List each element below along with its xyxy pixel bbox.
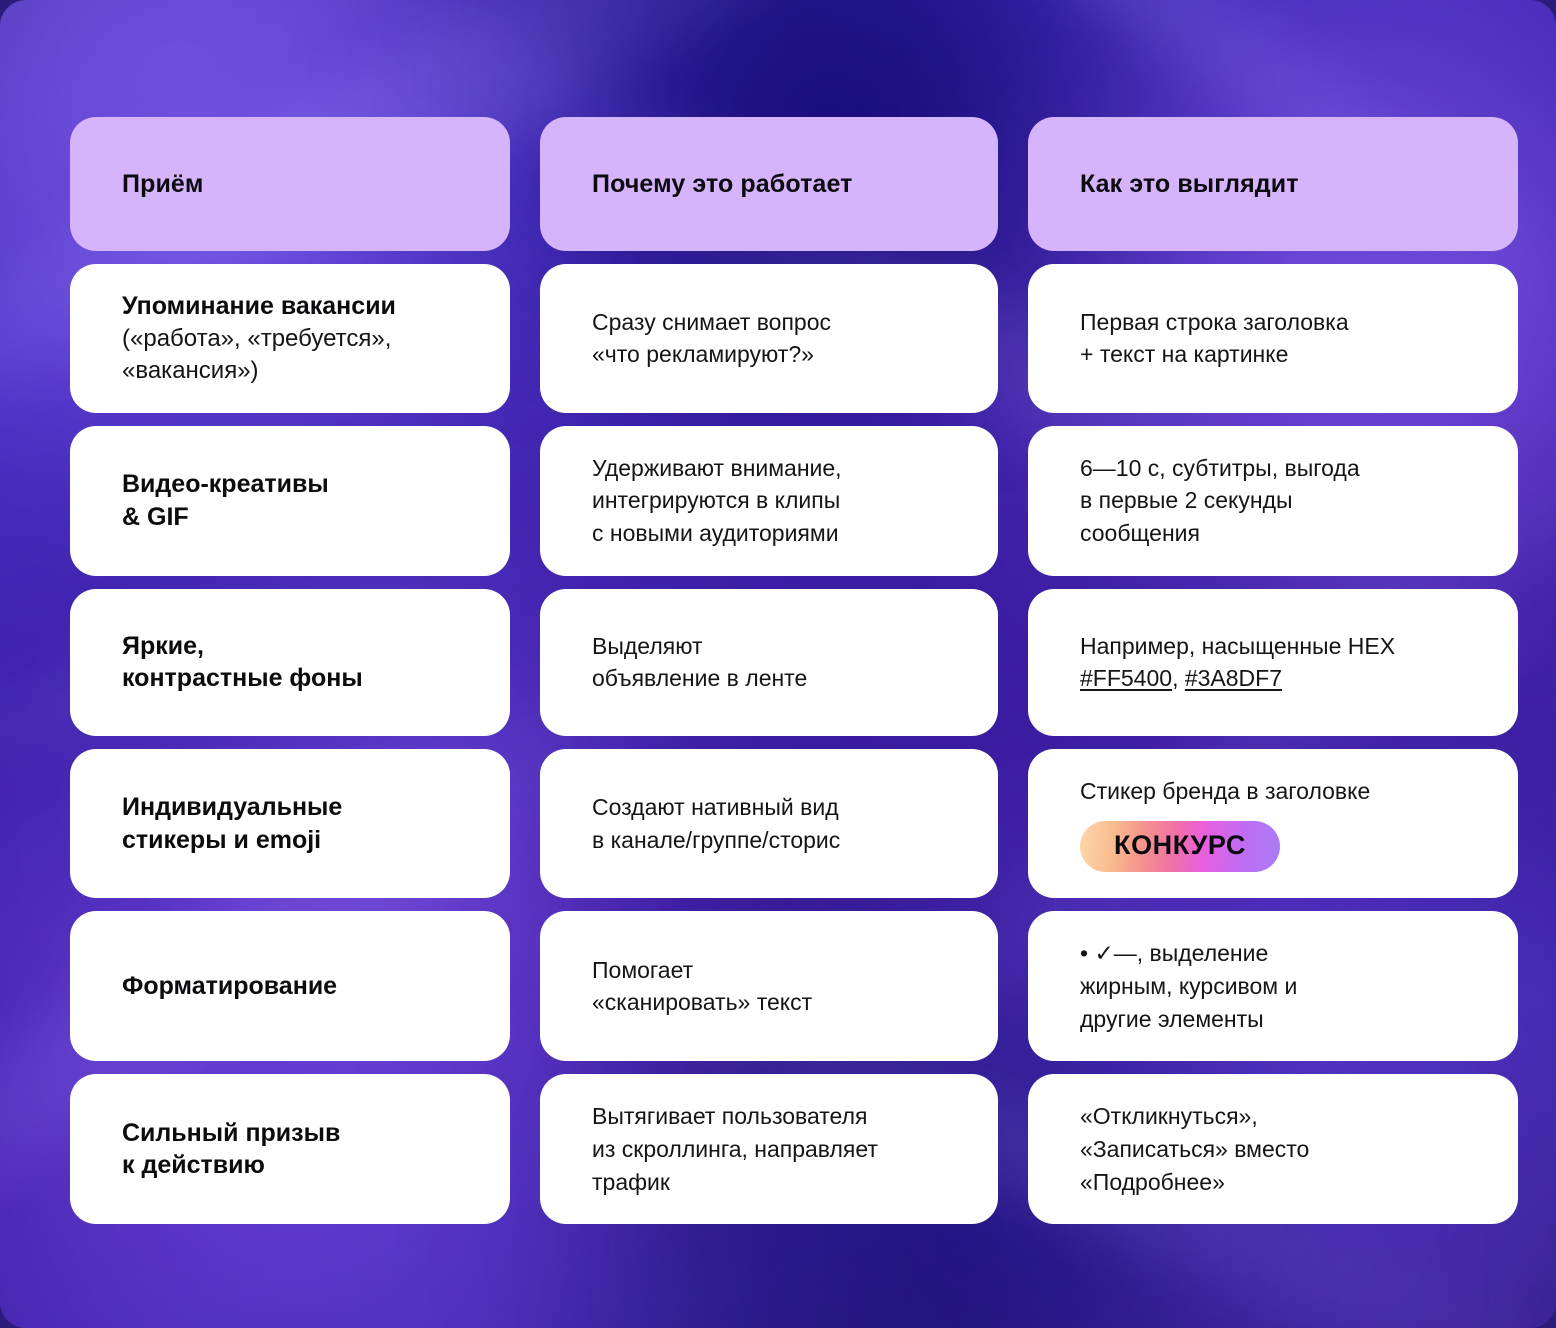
sticker-preview: КОНКУРС <box>1080 821 1466 872</box>
hex-code-link-2[interactable]: #3A8DF7 <box>1185 665 1282 691</box>
table-row: Сразу снимает вопрос «что рекламируют?» <box>540 264 998 413</box>
technique-subtitle: («работа», «требуется», «вакансия») <box>122 323 458 387</box>
table-row: Вытягивает пользователя из скроллинга, н… <box>540 1074 998 1224</box>
table-row: 6—10 с, субтитры, выгода в первые 2 секу… <box>1028 426 1518 576</box>
table-row: Сильный призыв к действию <box>70 1074 510 1224</box>
technique-title: Видео-креативы & GIF <box>122 468 458 533</box>
technique-title: Сильный призыв к действию <box>122 1117 458 1182</box>
table-row: Создают нативный вид в канале/группе/сто… <box>540 749 998 899</box>
how-text: Например, насыщенные HEX #FF5400, #3A8DF… <box>1080 630 1466 695</box>
how-text: • ✓—, выделение жирным, курсивом и други… <box>1080 937 1466 1035</box>
technique-title: Форматирование <box>122 970 458 1003</box>
column-header-label: Как это выглядит <box>1080 170 1466 199</box>
comparison-table: Приём Почему это работает Как это выгляд… <box>70 117 1488 1224</box>
table-row: Индивидуальные стикеры и emoji <box>70 749 510 899</box>
brand-sticker-badge: КОНКУРС <box>1080 821 1280 872</box>
table-row: Форматирование <box>70 911 510 1061</box>
technique-title: Упоминание вакансии <box>122 290 458 323</box>
column-header-label: Приём <box>122 170 458 199</box>
table-row: «Откликнуться», «Записаться» вместо «Под… <box>1028 1074 1518 1224</box>
table-header-technique: Приём <box>70 117 510 251</box>
why-text: Сразу снимает вопрос «что рекламируют?» <box>592 306 946 371</box>
table-row: Стикер бренда в заголовке КОНКУРС <box>1028 749 1518 899</box>
why-text: Выделяют объявление в ленте <box>592 630 946 695</box>
how-text: Стикер бренда в заголовке <box>1080 775 1466 808</box>
hex-separator: , <box>1172 665 1185 691</box>
table-row: Выделяют объявление в ленте <box>540 589 998 736</box>
table-header-how: Как это выглядит <box>1028 117 1518 251</box>
how-text: 6—10 с, субтитры, выгода в первые 2 секу… <box>1080 452 1466 550</box>
why-text: Создают нативный вид в канале/группе/сто… <box>592 791 946 856</box>
table-row: Упоминание вакансии («работа», «требуетс… <box>70 264 510 413</box>
how-text-prefix: Например, насыщенные HEX <box>1080 633 1395 659</box>
table-row: Удерживают внимание, интегрируются в кли… <box>540 426 998 576</box>
how-text: Первая строка заголовка + текст на карти… <box>1080 306 1466 371</box>
column-header-label: Почему это работает <box>592 170 946 199</box>
table-row: Помогает «сканировать» текст <box>540 911 998 1061</box>
hex-code-link-1[interactable]: #FF5400 <box>1080 665 1172 691</box>
table-header-why: Почему это работает <box>540 117 998 251</box>
poster-canvas: Приём Почему это работает Как это выгляд… <box>0 0 1556 1328</box>
table-row: Яркие, контрастные фоны <box>70 589 510 736</box>
how-text: «Откликнуться», «Записаться» вместо «Под… <box>1080 1100 1466 1198</box>
technique-title: Индивидуальные стикеры и emoji <box>122 791 458 856</box>
technique-title: Яркие, контрастные фоны <box>122 630 458 695</box>
why-text: Вытягивает пользователя из скроллинга, н… <box>592 1100 946 1198</box>
why-text: Помогает «сканировать» текст <box>592 954 946 1019</box>
why-text: Удерживают внимание, интегрируются в кли… <box>592 452 946 550</box>
table-row: Первая строка заголовка + текст на карти… <box>1028 264 1518 413</box>
table-row: • ✓—, выделение жирным, курсивом и други… <box>1028 911 1518 1061</box>
table-row: Например, насыщенные HEX #FF5400, #3A8DF… <box>1028 589 1518 736</box>
table-row: Видео-креативы & GIF <box>70 426 510 576</box>
